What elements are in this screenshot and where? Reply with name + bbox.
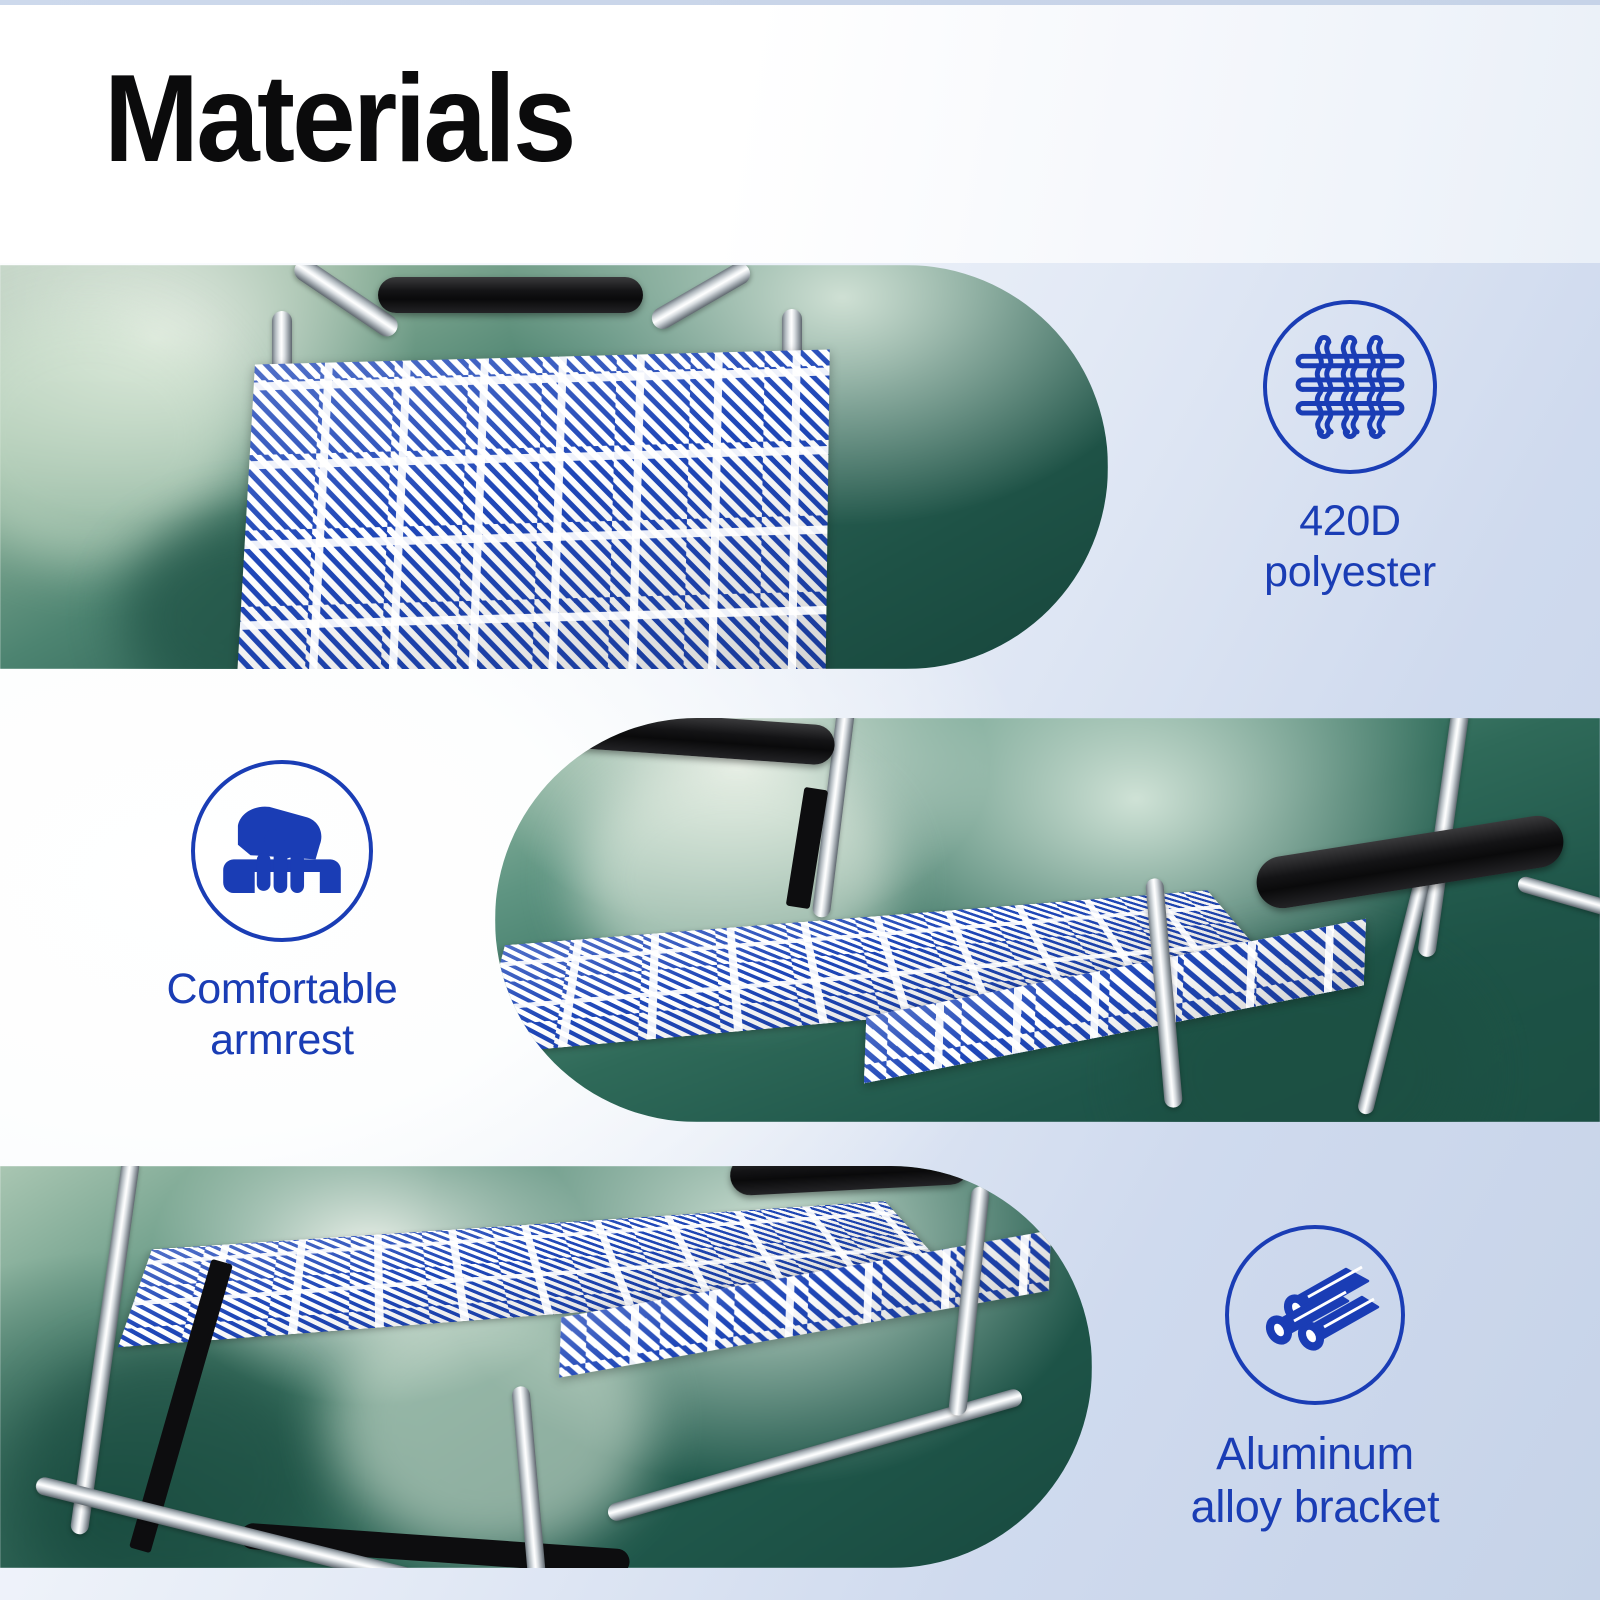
- chair-backrest-photo: [0, 265, 1108, 669]
- woven-fabric-glyph: [1291, 328, 1409, 446]
- hand-grip-glyph: [219, 796, 345, 906]
- hand-grip-armrest-icon: [191, 760, 373, 942]
- feature-label-aluminum-alloy-bracket: Aluminum alloy bracket: [1090, 1427, 1540, 1533]
- page-title: Materials: [104, 57, 574, 181]
- feature-label-420d-polyester: 420D polyester: [1140, 496, 1560, 597]
- chair-bracket-photo: [0, 1166, 1092, 1568]
- title-band: Materials: [0, 5, 1600, 263]
- aluminum-tubes-glyph: [1250, 1259, 1380, 1371]
- feature-420d-polyester: 420D polyester: [1140, 300, 1560, 597]
- polyester-fabric-backrest: [236, 349, 830, 669]
- feature-aluminum-alloy-bracket: Aluminum alloy bracket: [1090, 1225, 1540, 1533]
- infographic-page: Materials: [0, 0, 1600, 1600]
- feature-label-comfortable-armrest: Comfortable armrest: [82, 964, 482, 1065]
- foam-top-bar: [378, 277, 643, 313]
- aluminum-tubes-icon: [1225, 1225, 1405, 1405]
- woven-fabric-icon: [1263, 300, 1437, 474]
- chair-armrest-photo: [495, 718, 1600, 1122]
- fabric-shading: [236, 349, 830, 669]
- feature-comfortable-armrest: Comfortable armrest: [82, 760, 482, 1065]
